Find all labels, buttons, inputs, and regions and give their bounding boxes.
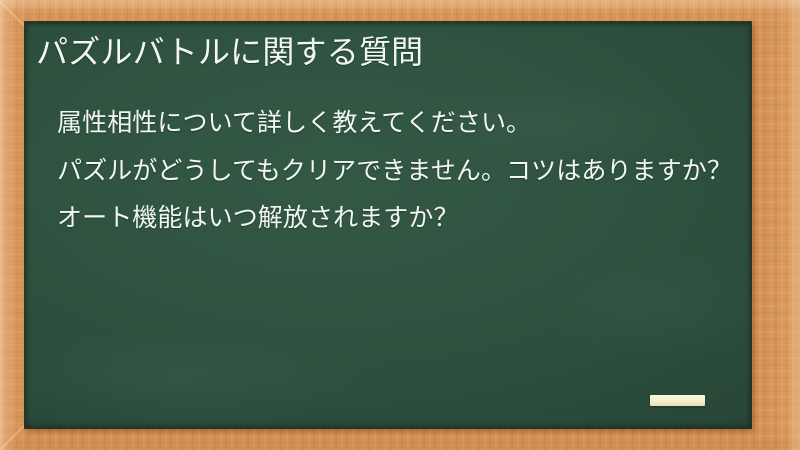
frame-miter-bottom-left — [0, 425, 24, 449]
chalk-stick — [650, 395, 705, 406]
chalkboard-surface: パズルバトルに関する質問 属性相性について詳しく教えてください。 パズルがどうし… — [25, 22, 751, 428]
slide-title: パズルバトルに関する質問 — [36, 31, 736, 73]
question-list-item: 属性相性について詳しく教えてください。 — [57, 104, 733, 143]
question-list: 属性相性について詳しく教えてください。 パズルがどうしてもクリアできません。コツ… — [57, 104, 733, 247]
chalkboard-slide: パズルバトルに関する質問 属性相性について詳しく教えてください。 パズルがどうし… — [0, 0, 800, 450]
question-list-item: オート機能はいつ解放されますか？ — [57, 199, 733, 238]
board-content: パズルバトルに関する質問 属性相性について詳しく教えてください。 パズルがどうし… — [25, 22, 751, 428]
frame-miter-top-left — [0, 1, 24, 25]
question-list-item: パズルがどうしてもクリアできません。コツはありますか？ — [57, 152, 733, 191]
